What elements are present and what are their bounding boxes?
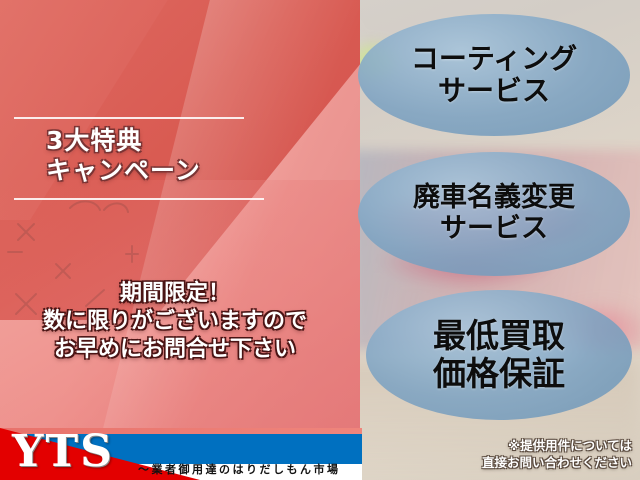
benefit-bubble-coating: コーティング サービス: [358, 14, 630, 136]
logo-tagline: 〜業者御用達のはりだしもん市場: [138, 461, 341, 477]
offer-line-1: 期間限定！: [0, 280, 350, 308]
limited-offer-text: 期間限定！ 数に限りがございますので お早めにお問合せ下さい: [0, 280, 350, 364]
note-line-1: ※提供用件については: [482, 438, 632, 455]
divider-line-bottom: [14, 198, 264, 200]
benefit-1-line-1: コーティング: [411, 43, 577, 75]
benefit-1-line-2: サービス: [438, 75, 550, 107]
offer-line-3: お早めにお問合せ下さい: [0, 336, 350, 364]
headline-line-2: キャンペーン: [46, 156, 300, 186]
company-logo-bar: YTS 〜業者御用達のはりだしもん市場: [0, 428, 362, 480]
divider-line-top: [14, 117, 244, 119]
benefit-2-line-2: サービス: [440, 214, 548, 245]
headline-line-1: 3大特典: [46, 126, 300, 156]
benefit-3-line-1: 最低買取: [433, 317, 565, 355]
benefit-3-line-2: 価格保証: [433, 355, 565, 393]
campaign-headline: 3大特典 キャンペーン: [0, 126, 300, 186]
disclaimer-note: ※提供用件については 直接お問い合わせください: [482, 438, 632, 472]
benefit-2-line-1: 廃車名義変更: [413, 183, 575, 214]
promo-banner: 3大特典 キャンペーン 期間限定！ 数に限りがございますので お早めにお問合せ下…: [0, 0, 640, 480]
note-line-2: 直接お問い合わせください: [482, 455, 632, 472]
benefit-bubble-title-transfer: 廃車名義変更 サービス: [358, 152, 630, 276]
benefit-bubble-price-guarantee: 最低買取 価格保証: [366, 290, 632, 420]
left-pink-panel: 3大特典 キャンペーン 期間限定！ 数に限りがございますので お早めにお問合せ下…: [0, 0, 360, 480]
logo-wordmark: YTS: [12, 430, 114, 474]
offer-line-2: 数に限りがございますので: [0, 308, 350, 336]
